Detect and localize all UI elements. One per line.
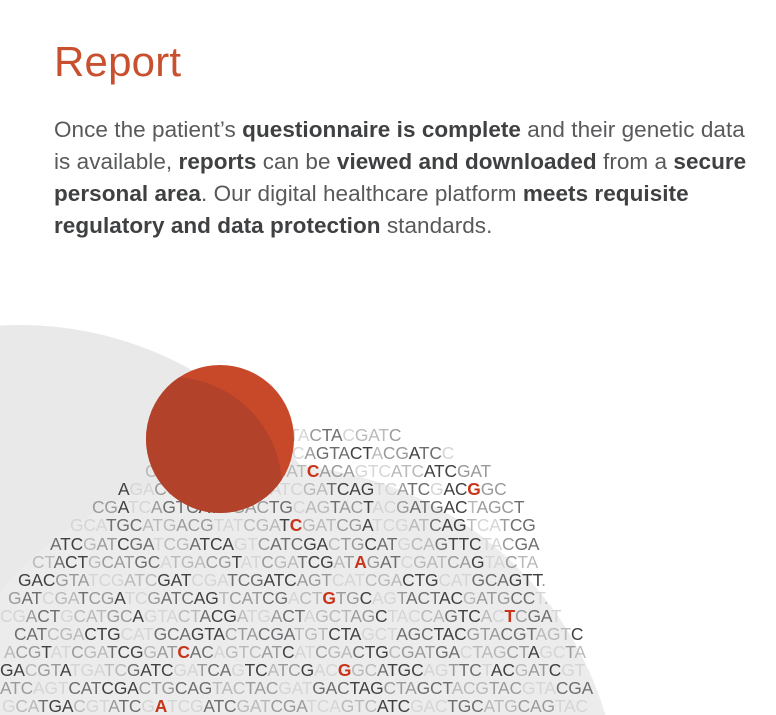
dna-base-run: GC [539, 642, 565, 662]
dna-base-run: A [271, 606, 282, 626]
dna-base-run: CA [229, 588, 252, 608]
dna-base-run: GT [316, 443, 339, 463]
dna-base-run: TGT [294, 624, 328, 644]
dna-base-run: TCG [227, 570, 263, 590]
dna-base-run: CG [308, 552, 334, 572]
dna-base-run: A [268, 660, 278, 680]
dna-base-run: GA [401, 642, 425, 662]
dna-base-run: GA [84, 642, 108, 662]
dna-base-run: T [467, 497, 476, 517]
dna-base-run: G [497, 588, 510, 608]
dna-base-run: G [231, 660, 244, 680]
dna-base-run: C [258, 534, 270, 554]
dna-base-run: AG [442, 515, 467, 535]
dna-base-run: C [291, 534, 303, 554]
dna-base-run: AT [377, 534, 398, 554]
dna-base-run: C [352, 642, 364, 662]
dna-base-run: A [304, 443, 315, 463]
dna-base-run: A [397, 479, 407, 499]
dna-variant-base: C [177, 642, 189, 662]
dna-base-run: GAT [157, 570, 191, 590]
dna-base-run: GT [234, 534, 258, 554]
dna-base-run: TCG [167, 696, 203, 715]
dna-base-run: AG [305, 497, 330, 517]
dna-base-run: ATC [264, 570, 297, 590]
dna-base-run: AT [157, 642, 178, 662]
dna-base-run: C [492, 606, 504, 626]
dna-base-run: AT [161, 588, 182, 608]
dna-variant-base: C [307, 461, 319, 481]
dna-base-run: AT [476, 588, 497, 608]
dna-base-run: . [541, 570, 546, 590]
dna-base-run: C [375, 606, 387, 626]
dna-base-run: CG [211, 606, 237, 626]
dna-base-run: C [309, 425, 321, 445]
dna-base-run: GA [413, 552, 437, 572]
dna-base-run: A [371, 443, 382, 463]
dna-base-run: AC [314, 660, 338, 680]
dna-base-run: AG [350, 606, 375, 626]
dna-base-run: C [181, 588, 193, 608]
dna-base-run: AG [423, 660, 448, 680]
dna-base-run: ATG [484, 696, 518, 715]
dna-base-run: C [515, 606, 527, 626]
dna-base-run: C [342, 425, 354, 445]
dna-base-run: A [304, 606, 315, 626]
dna-base-run: T [197, 660, 207, 680]
dna-base-run: TC [124, 588, 147, 608]
dna-sequence-line: GATCGATCGATCGATCAGTCATCGACTGTGCAGTACTACG… [0, 589, 776, 607]
dna-base-run: TT [448, 534, 469, 554]
dna-base-run: GCT [361, 624, 396, 644]
dna-base-run: CGA [101, 678, 138, 698]
dna-base-run: GAC [312, 678, 349, 698]
dna-base-run: T [153, 534, 163, 554]
dna-base-run: CA [477, 515, 500, 535]
dna-base-run: A [237, 606, 247, 626]
dna-base-run: T [219, 588, 229, 608]
dna-base-run: G [471, 552, 484, 572]
dna-base-run: T [514, 497, 524, 517]
dna-base-run: A [26, 606, 37, 626]
dna-base-run: GT [561, 660, 585, 680]
dna-base-run: A [574, 642, 585, 662]
dna-base-run: GT [37, 660, 60, 680]
dna-base-run: AG [477, 497, 502, 517]
dna-base-run: CG [262, 588, 288, 608]
dna-sequence-line: CGATCAGTCATCGACTGCAGTACTACGATGACTAGCT [0, 498, 776, 516]
dna-base-run: CTG [139, 678, 175, 698]
dna-base-run: CTA [225, 624, 258, 644]
dna-base-run: GTC [355, 461, 391, 481]
dna-base-run: TC [200, 534, 223, 554]
dna-base-run: TC [419, 443, 442, 463]
dna-base-run: T [482, 660, 491, 680]
dna-base-run: CG [118, 642, 144, 662]
dna-base-run: GA [303, 534, 328, 554]
dna-base-run: C [360, 588, 372, 608]
dna-base-run: T [38, 696, 48, 715]
dna-base-run: A [409, 443, 419, 463]
dna-base-run: GC [351, 660, 377, 680]
dna-base-run: GA [173, 660, 197, 680]
dna-base-run: AT [241, 552, 262, 572]
dna-base-run: GT [144, 606, 167, 626]
dna-base-run: GTA [191, 624, 225, 644]
dna-base-run: CA [74, 606, 97, 626]
dna-base-run: AT [261, 642, 282, 662]
dna-base-run: A [377, 660, 387, 680]
dna-base-run: CTA [384, 678, 417, 698]
dna-base-run: GTA [522, 678, 556, 698]
dna-base-run: TG [247, 606, 271, 626]
dna-base-run: ACA [319, 461, 354, 481]
dna-base-run: A [481, 606, 492, 626]
dna-base-run: A [528, 642, 539, 662]
dna-base-run: GT [86, 696, 109, 715]
dna-base-run: TC [104, 660, 127, 680]
dna-base-run: AC [439, 588, 463, 608]
dna-sequence-line: CATCGACTGCATGCAGTACTACGATGTCTAGCTAGCTACG… [0, 625, 776, 643]
report-page: Report Once the patient’s questionnaire … [0, 0, 776, 715]
dna-base-run: TG [365, 642, 389, 662]
dna-base-run: TA [517, 552, 538, 572]
dna-base-run: T [551, 606, 561, 626]
dna-base-run: AC [491, 660, 515, 680]
dna-base-run: GTC [341, 696, 377, 715]
dna-base-run: C [364, 534, 376, 554]
dna-base-run: A [94, 660, 104, 680]
dna-sequence-line: GACGTATCGATCGATCGATCGATCAGTCATCGACTGCATG… [0, 571, 776, 589]
dna-base-run: G [444, 606, 457, 626]
dna-base-run: G [493, 642, 506, 662]
dna-base-run: CTG [402, 570, 438, 590]
dna-base-run: TC [278, 660, 301, 680]
dna-base-run: A [114, 588, 124, 608]
dna-base-run: G [301, 660, 314, 680]
plain-text: from a [597, 149, 674, 174]
dna-base-run: G [8, 588, 21, 608]
dna-base-run: T [378, 425, 388, 445]
dna-base-run: CT [32, 552, 54, 572]
dna-base-run: T [430, 588, 439, 608]
dna-base-run: G [127, 660, 140, 680]
plain-text: . Our digital healthcare platform [201, 181, 523, 206]
dna-base-run: T [252, 588, 262, 608]
dna-sequence-line: ATCAGTCATCGACTGCAGTACTACGATGACTAGCTAGCTA… [0, 679, 776, 697]
dna-base-run: CG [88, 588, 114, 608]
dna-base-run: CG [92, 497, 118, 517]
dna-base-run: CG [206, 552, 232, 572]
dna-base-run: CGA [270, 696, 306, 715]
dna-base-run: C [389, 425, 401, 445]
dna-base-run: T [78, 588, 88, 608]
dna-base-run: CTA [328, 624, 361, 644]
dna-base-run: GAC [18, 570, 55, 590]
dna-base-run: AT [270, 534, 291, 554]
dna-base-run: CAT [68, 678, 101, 698]
dna-base-run: GA [302, 515, 326, 535]
dna-base-run: AGT [33, 678, 68, 698]
dna-base-run: TC [407, 479, 430, 499]
dna-base-run: TG [336, 588, 360, 608]
dna-base-run: AT [96, 534, 117, 554]
dna-base-run: A [199, 606, 210, 626]
dna-base-run: GC [481, 479, 507, 499]
dna-base-run: TC [372, 515, 395, 535]
dna-variant-base: T [505, 606, 515, 626]
dna-base-run: CA [447, 552, 471, 572]
dna-base-run: CA [101, 552, 124, 572]
dna-base-run: A [4, 642, 15, 662]
dna-base-run: CGA [191, 570, 227, 590]
dna-base-run: CG [383, 443, 409, 463]
dna-base-run: T [363, 497, 372, 517]
dna-base-run: C [328, 534, 340, 554]
dna-base-run: ACG [176, 515, 213, 535]
dna-base-run: A [108, 696, 118, 715]
dna-variant-base: G [338, 660, 351, 680]
dna-sequence-line: GACGTATGATCGATCGATCAGTCATCGACGGCATGCAGTT… [0, 661, 776, 679]
dna-base-run: GC [315, 606, 341, 626]
dna-sequence-line: CGTATCGATCGGATCACAGTCATCATCGAT [0, 462, 776, 480]
dna-base-run: A [334, 552, 344, 572]
dna-base-run: T [425, 642, 435, 662]
dna-base-run: GA [0, 660, 25, 680]
dna-base-run: C [261, 552, 273, 572]
dna-base-run: GA [514, 534, 539, 554]
dna-base-run: AT [528, 660, 549, 680]
dna-base-run: AC [339, 497, 363, 517]
dna-base-run: C [460, 642, 472, 662]
dna-variant-base: A [155, 696, 167, 715]
dna-base-run: G [2, 696, 15, 715]
dna-base-run: CAG [518, 696, 555, 715]
dna-base-run: AC [444, 497, 468, 517]
dna-base-run: T [326, 515, 336, 535]
dna-base-run: A [288, 588, 299, 608]
emphasis-text: reports [179, 149, 257, 174]
dna-base-run: A [132, 606, 143, 626]
dna-base-run: G [435, 534, 448, 554]
dna-base-run: CTG [84, 624, 120, 644]
dna-base-run: C [293, 497, 305, 517]
dna-base-run: C [401, 552, 413, 572]
dna-base-run: C [502, 534, 514, 554]
dna-base-run: GA [328, 642, 353, 662]
dna-base-run: GC [134, 552, 160, 572]
dna-base-run: TAC [245, 678, 278, 698]
dna-base-run: CAT [14, 624, 47, 644]
dna-base-run: TG [387, 660, 411, 680]
dna-base-run: A [60, 660, 70, 680]
dna-base-run: AG [372, 588, 397, 608]
dna-base-run: GAT [457, 461, 491, 481]
dna-base-run: A [118, 479, 129, 499]
plain-text: can be [256, 149, 336, 174]
dna-sequence-line: CGACTGCATGCAGTACTACGATGACTAGCTAGCTACCAGT… [0, 607, 776, 625]
dna-base-run: T [297, 552, 307, 572]
dna-base-run: CA [15, 696, 38, 715]
dna-base-run: T [107, 642, 117, 662]
dna-base-run: TAC [212, 678, 245, 698]
dna-base-run: CGA [365, 570, 402, 590]
dna-base-run: CA [411, 534, 435, 554]
dna-base-run: CT [506, 642, 528, 662]
dna-base-run: ATG [142, 515, 176, 535]
dna-base-run: G [515, 660, 528, 680]
dna-base-run: C [571, 624, 583, 644]
dna-base-run: GTT [509, 570, 541, 590]
dna-base-run: TAT [213, 515, 243, 535]
dna-base-run: T [565, 642, 574, 662]
dna-base-run: A [222, 534, 233, 554]
dna-base-run: G [143, 642, 156, 662]
dna-sequence-line: ACGTATCGATCGGATCACAGTCATCATCGACTGCGATGAC… [0, 643, 776, 661]
dna-base-run: CG [0, 606, 26, 626]
dna-base-run: C [249, 642, 261, 662]
dna-base-run: ATC [391, 461, 424, 481]
dna-base-run: T [499, 515, 509, 535]
dna-base-run: C [282, 642, 294, 662]
dna-sequence-line: ATCGATCGATCGATCAGTCATCGACTGCATGCAGTTCTAC… [0, 535, 776, 553]
dna-base-run: C [469, 534, 481, 554]
dna-base-run: A [338, 443, 349, 463]
dna-base-run: T [326, 479, 336, 499]
dna-base-run: TGC [447, 696, 483, 715]
dna-base-run: TAC [489, 678, 522, 698]
dna-base-run: G [361, 479, 374, 499]
dna-base-run: TA [481, 534, 502, 554]
page-title: Report [54, 36, 754, 88]
dna-base-run: G [430, 497, 443, 517]
dna-base-run: GAT [236, 696, 270, 715]
dna-base-run: C [501, 497, 513, 517]
dna-base-run: TC [459, 660, 482, 680]
dna-base-run: AT [21, 588, 42, 608]
dna-base-run: GA [355, 425, 379, 445]
dna-base-run: TG [170, 552, 194, 572]
dna-base-run: CT [65, 552, 88, 572]
dna-base-run: C [408, 606, 420, 626]
plain-text: Once the patient’s [54, 117, 242, 142]
dna-base-run: G [396, 497, 409, 517]
dna-base-run: ATC [424, 461, 457, 481]
dna-variant-base: G [467, 479, 480, 499]
dna-base-run: TC [374, 479, 397, 499]
dna-base-run: G [141, 696, 154, 715]
dna-base-run: AC [406, 588, 430, 608]
dna-sequence-line: GCATGACGTATCGATCGATCGATCGATCAGTCATCGACTG… [0, 697, 776, 715]
dna-base-run: TCA [306, 696, 340, 715]
emphasis-text: viewed and downloaded [337, 149, 597, 174]
dna-base-run: C [42, 588, 54, 608]
dna-base-run: TC [458, 606, 481, 626]
dna-base-run: AT [410, 497, 431, 517]
dna-base-run: CA [337, 479, 361, 499]
dna-base-run: GA [435, 642, 460, 662]
dna-base-run: CAG [175, 678, 212, 698]
dna-base-run: A [189, 534, 199, 554]
dna-base-run: CA [421, 606, 445, 626]
dna-base-run: GA [54, 588, 78, 608]
dna-base-run: A [166, 606, 177, 626]
dna-base-run: C [25, 660, 37, 680]
dna-variant-base: G [322, 588, 335, 608]
dna-base-run: TA [484, 552, 505, 572]
plain-text: standards. [381, 213, 493, 238]
dna-base-run: C [411, 660, 423, 680]
dna-base-run: C [71, 642, 83, 662]
content-block: Report Once the patient’s questionnaire … [54, 36, 754, 242]
dna-base-run: C [549, 660, 561, 680]
dna-base-run: T [397, 588, 406, 608]
dna-base-run: G [147, 588, 160, 608]
dna-base-run: GA [527, 606, 551, 626]
body-paragraph: Once the patient’s questionnaire is comp… [54, 114, 754, 242]
dna-base-run: T [124, 552, 134, 572]
dna-base-run: C [117, 534, 129, 554]
dna-base-run: GCA [70, 515, 106, 535]
dna-base-run: AG [194, 588, 219, 608]
dna-base-run: AT [408, 515, 429, 535]
dna-base-run: TC [245, 660, 268, 680]
dna-base-run: G [367, 552, 380, 572]
dna-base-run: CGA [258, 624, 294, 644]
dna-base-run: G [395, 515, 408, 535]
dna-base-run: C [442, 443, 454, 463]
orange-circle-accent [146, 365, 294, 513]
dna-base-run: G [397, 534, 410, 554]
dna-base-run: TG [70, 660, 94, 680]
dna-base-run: A [214, 642, 225, 662]
dna-base-run: T [279, 515, 289, 535]
dna-base-run: A [54, 552, 65, 572]
dna-base-run: CAT [121, 624, 154, 644]
dna-base-run: CGA [47, 624, 84, 644]
dna-base-run: A [118, 497, 128, 517]
dna-base-run: GA [48, 696, 73, 715]
dna-base-run: A [194, 552, 205, 572]
dna-base-run: C [161, 660, 173, 680]
dna-base-run: G [60, 606, 73, 626]
dna-base-run: CA [207, 660, 231, 680]
dna-base-run: C [73, 696, 85, 715]
dna-base-run: TC [60, 534, 83, 554]
dna-base-run: GAC [410, 696, 447, 715]
dna-base-run: GCA [471, 570, 508, 590]
dna-base-run: AT [50, 642, 71, 662]
dna-base-run: AC [443, 479, 467, 499]
dna-base-run: GCT [417, 678, 452, 698]
dna-base-run: CC [510, 588, 535, 608]
dna-base-run: ACG [452, 678, 489, 698]
dna-base-run: ATC [0, 678, 33, 698]
dna-base-run: G [83, 534, 96, 554]
dna-base-run: CGA [556, 678, 593, 698]
dna-base-run: ATC [203, 696, 236, 715]
dna-sequence-line: CATGCAGTACTACGATC [0, 426, 776, 444]
dna-base-run: G [88, 552, 101, 572]
dna-base-run: TAC [555, 696, 588, 715]
dna-base-run: CG [510, 515, 536, 535]
dna-base-run: CGA [243, 515, 279, 535]
dna-base-run: AT [380, 552, 401, 572]
dna-base-run: CAT [332, 570, 365, 590]
dna-base-run: GA [274, 552, 298, 572]
dna-base-run: GTA [467, 624, 501, 644]
dna-base-run: CG [336, 515, 362, 535]
